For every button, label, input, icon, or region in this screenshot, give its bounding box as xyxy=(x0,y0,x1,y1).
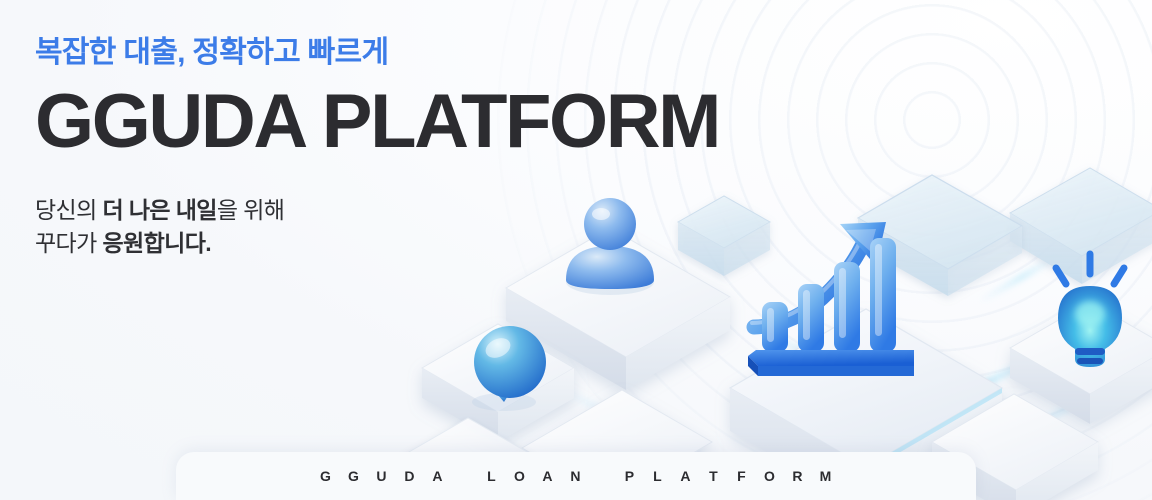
wordmark-letter: O xyxy=(506,468,534,484)
wordmark-letter: D xyxy=(396,468,424,484)
wordmark-letter: N xyxy=(562,468,590,484)
wordmark-letter: L xyxy=(644,468,672,484)
wordmark-letter: G xyxy=(340,468,368,484)
wordmark-letter: R xyxy=(784,468,812,484)
wordmark-letter: L xyxy=(478,468,506,484)
subcopy-l2-a: 꾸다가 xyxy=(35,230,102,256)
subcopy-line2: 꾸다가 응원합니다. xyxy=(35,230,211,256)
page-title: GGUDA PLATFORM xyxy=(35,86,719,158)
hero-tagline: 복잡한 대출, 정확하고 빠르게 xyxy=(35,34,719,72)
wordmark-letter: O xyxy=(756,468,784,484)
wordmark-letter: A xyxy=(424,468,452,484)
hero-subcopy: 당신의 더 나은 내일을 위해 꾸다가 응원합니다. xyxy=(35,194,719,261)
wordmark-letter: A xyxy=(534,468,562,484)
subcopy-l1-b: 을 위해 xyxy=(217,197,284,223)
subcopy-l1-emphasis: 더 나은 내일 xyxy=(102,197,216,223)
chart-base xyxy=(748,350,914,376)
chart-bar-2 xyxy=(798,284,824,352)
subcopy-line1: 당신의 더 나은 내일을 위해 xyxy=(35,197,284,223)
wordmark-letter: T xyxy=(700,468,728,484)
chart-bar-1 xyxy=(762,302,788,352)
wordmark-letter: G xyxy=(312,468,340,484)
wordmark-text: GGUDALOANPLATFORM xyxy=(312,468,840,484)
chart-bar-3 xyxy=(834,262,860,352)
wordmark-card: GGUDALOANPLATFORM xyxy=(176,452,976,500)
hero-banner: 복잡한 대출, 정확하고 빠르게 GGUDA PLATFORM 당신의 더 나은… xyxy=(0,0,1152,500)
glass-bar-tile-back xyxy=(1010,168,1152,284)
wordmark-letter: P xyxy=(616,468,644,484)
hero-copy-block: 복잡한 대출, 정확하고 빠르게 GGUDA PLATFORM 당신의 더 나은… xyxy=(35,34,719,260)
wordmark-letter: M xyxy=(812,468,840,484)
subcopy-l1-a: 당신의 xyxy=(35,197,102,223)
subcopy-l2-emphasis: 응원합니다. xyxy=(102,230,211,256)
wordmark-letter: F xyxy=(728,468,756,484)
wordmark-letter: U xyxy=(368,468,396,484)
chart-bar-4 xyxy=(870,238,896,352)
wordmark-letter: A xyxy=(672,468,700,484)
bar-chart-3d xyxy=(748,238,914,378)
